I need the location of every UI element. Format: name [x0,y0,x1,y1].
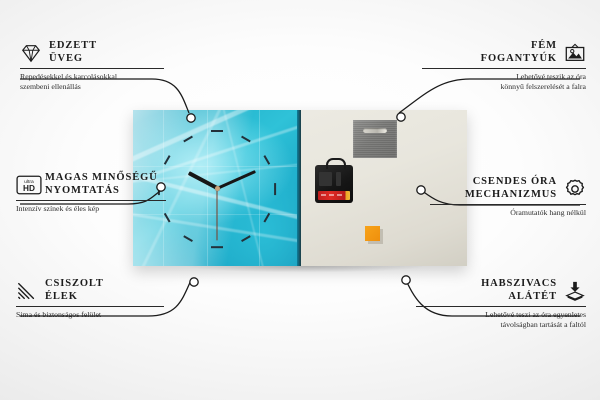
feature-foam-spacer[interactable]: HABSZIVACS ALÁTÉT Lehetővé teszi az óra … [414,278,586,330]
mechanism-body [336,172,341,186]
feature-silent-mechanism[interactable]: CSENDES ÓRA MECHANIZMUS Óramutatók hang … [428,176,586,218]
clock-tick [211,246,223,248]
ultra-hd-icon: ultra HD [16,174,38,196]
metal-hanger [353,120,397,158]
clock-tick [241,135,250,141]
feature-high-quality-print[interactable]: ultra HD MAGAS MINŐSÉGŰ NYOMTATÁS Intenz… [16,172,168,214]
clock-tick [164,155,170,164]
diamond-icon [20,42,42,64]
clock-tick [241,236,250,242]
feature-header: ultra HD MAGAS MINŐSÉGŰ NYOMTATÁS [16,172,168,197]
feature-title: CSENDES ÓRA MECHANIZMUS [465,176,557,201]
foam-pad-icon [564,280,586,302]
feature-title: EDZETT ÜVEG [49,40,97,65]
feature-subtitle: Intenzív színek és éles kép [16,204,168,214]
svg-text:HD: HD [23,184,35,193]
feature-title: FÉM FOGANTYÚK [481,40,557,65]
battery-stripe [329,194,334,196]
feature-header: CSENDES ÓRA MECHANIZMUS [428,176,586,201]
feature-tempered-glass[interactable]: EDZETT ÜVEG Repedésekkel és karcolásokka… [20,40,168,92]
battery-stripe [337,194,342,196]
hanger-slot [363,128,387,133]
picture-hanger-icon [564,42,586,64]
feature-title: HABSZIVACS ALÁTÉT [481,278,557,303]
feature-divider [16,200,166,201]
feature-header: EDZETT ÜVEG [20,40,168,65]
feature-divider [422,68,586,69]
feature-title: CSISZOLT ÉLEK [45,278,104,303]
feature-divider [430,204,586,205]
polished-edges-icon [16,280,38,302]
battery [318,191,350,200]
battery-stripe [321,194,326,196]
feature-subtitle: Sima és biztonságos felület [16,310,166,320]
product-image [133,110,467,266]
clock-tick [274,183,276,195]
clock-tick [183,236,192,242]
clock-center-cap [215,186,220,191]
feature-divider [20,68,164,69]
feature-polished-edges[interactable]: CSISZOLT ÉLEK Sima és biztonságos felüle… [16,278,166,320]
infographic-canvas: EDZETT ÜVEG Repedésekkel és karcolásokka… [0,0,600,400]
feature-subtitle: Lehetővé teszik az óra könnyű felszerelé… [420,72,586,92]
feature-header: FÉM FOGANTYÚK [420,40,586,65]
feature-divider [16,306,164,307]
clock-tick [211,130,223,132]
clock-second-hand [217,188,218,240]
gear-icon [564,178,586,200]
feature-header: HABSZIVACS ALÁTÉT [414,278,586,303]
feature-metal-handles[interactable]: FÉM FOGANTYÚK Lehetővé teszik az óra kön… [420,40,586,92]
feature-subtitle: Óramutatók hang nélkül [428,208,586,218]
panel-seam [207,110,208,266]
feature-header: CSISZOLT ÉLEK [16,278,166,303]
mechanism-body [319,172,332,186]
clock-tick [264,155,270,164]
panel-seam [259,110,260,266]
feature-subtitle: Lehetővé teszi az óra egyenletes távolsá… [414,310,586,330]
clock-mechanism [315,165,353,203]
feature-divider [416,306,586,307]
foam-pad [365,226,380,241]
feature-title: MAGAS MINŐSÉGŰ NYOMTATÁS [45,172,158,197]
feature-subtitle: Repedésekkel és karcolásokkal szembeni e… [20,72,168,92]
panel-seam [133,166,301,167]
feather-streak [220,110,268,266]
mechanism-loop [326,158,346,169]
